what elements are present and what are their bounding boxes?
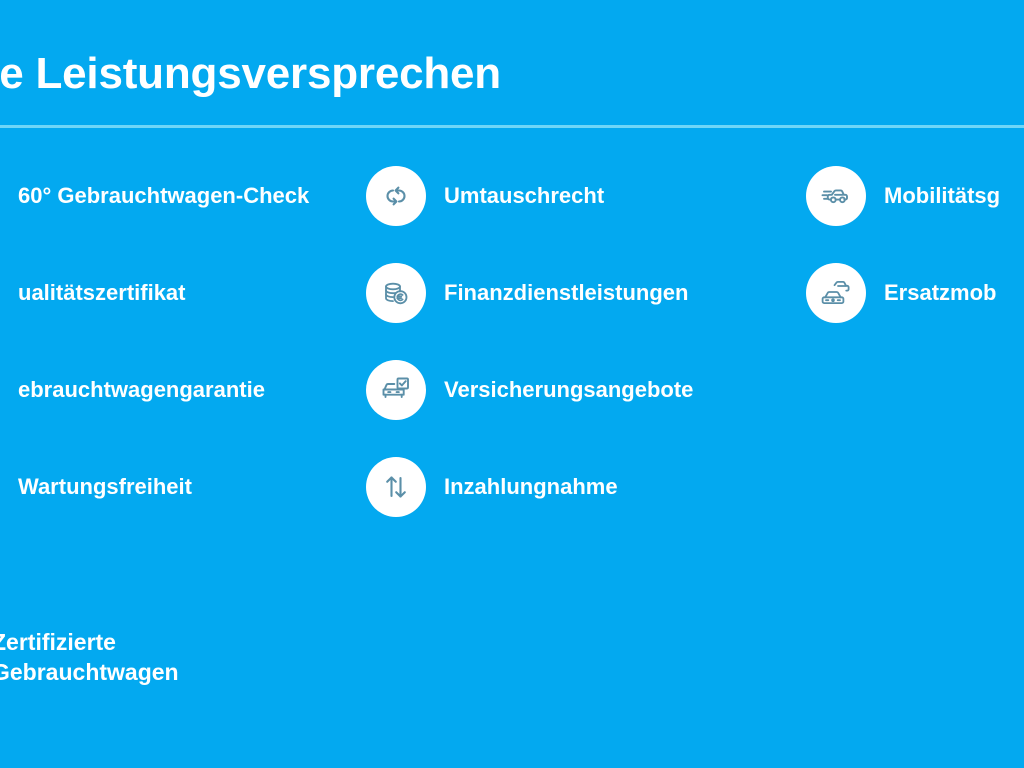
- benefit-label: Umtauschrecht: [444, 183, 604, 208]
- benefit-label: 60° Gebrauchtwagen-Check: [18, 183, 309, 208]
- benefit-item[interactable]: Umtauschrecht: [366, 150, 806, 247]
- coins-euro-icon: [378, 275, 414, 311]
- benefits-columns: 60° Gebrauchtwagen-Check ualitätszertifi…: [0, 150, 1024, 590]
- slide-canvas: ere Leistungsversprechen 60° Gebrauchtwa…: [0, 0, 1024, 768]
- benefit-icon-circle: [366, 360, 426, 420]
- exchange-arrows-icon: [378, 178, 414, 214]
- benefit-item[interactable]: Ersatzmob: [806, 247, 1024, 344]
- up-down-arrows-icon: [378, 469, 414, 505]
- benefit-item[interactable]: Finanzdienstleistungen: [366, 247, 806, 344]
- benefit-icon-circle: [806, 166, 866, 226]
- benefit-label: ebrauchtwagengarantie: [18, 377, 265, 402]
- benefit-item[interactable]: Wartungsfreiheit: [0, 441, 360, 538]
- benefit-label: Ersatzmob: [884, 280, 996, 305]
- page-title: ere Leistungsversprechen: [0, 52, 501, 96]
- car-motion-icon: [818, 178, 854, 214]
- benefit-item[interactable]: ualitätszertifikat: [0, 247, 360, 344]
- footer-logo-line-1: Zertifizierte: [0, 628, 179, 658]
- benefits-column-3: Mobilitätsg: [806, 150, 1024, 344]
- footer-logo-line-2: Gebrauchtwagen: [0, 658, 179, 688]
- two-cars-icon: [818, 275, 854, 311]
- benefit-item[interactable]: ebrauchtwagengarantie: [0, 344, 360, 441]
- header-divider: [0, 125, 1024, 128]
- benefit-icon-circle: [366, 457, 426, 517]
- benefit-icon-circle: [806, 263, 866, 323]
- slide-header: ere Leistungsversprechen: [0, 0, 1024, 127]
- benefits-column-2: Umtauschrecht: [366, 150, 806, 538]
- benefit-item[interactable]: Mobilitätsg: [806, 150, 1024, 247]
- benefit-label: Wartungsfreiheit: [18, 474, 192, 499]
- benefit-item[interactable]: Versicherungsangebote: [366, 344, 806, 441]
- benefit-label: Versicherungsangebote: [444, 377, 693, 402]
- benefit-label: Mobilitätsg: [884, 183, 1000, 208]
- benefits-column-1: 60° Gebrauchtwagen-Check ualitätszertifi…: [0, 150, 360, 538]
- benefit-icon-circle: [366, 263, 426, 323]
- benefit-item[interactable]: 60° Gebrauchtwagen-Check: [0, 150, 360, 247]
- footer-logo-text: Zertifizierte Gebrauchtwagen: [0, 628, 179, 688]
- benefit-label: Inzahlungnahme: [444, 474, 618, 499]
- benefit-label: Finanzdienstleistungen: [444, 280, 688, 305]
- car-checklist-icon: [378, 372, 414, 408]
- benefit-item[interactable]: Inzahlungnahme: [366, 441, 806, 538]
- benefit-label: ualitätszertifikat: [18, 280, 186, 305]
- benefit-icon-circle: [366, 166, 426, 226]
